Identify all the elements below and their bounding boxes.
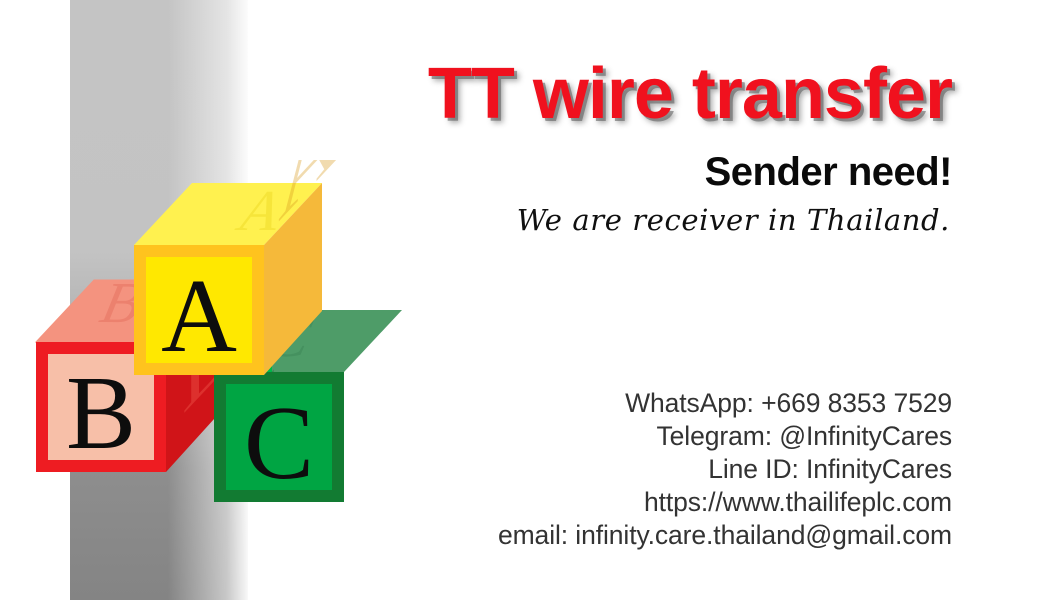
svg-text:B: B — [66, 354, 136, 471]
promo-banner: B B B C — [0, 0, 1063, 600]
page-title: TT wire transfer — [250, 58, 952, 130]
contact-line-website[interactable]: https://www.thailifeplc.com — [250, 486, 952, 519]
tagline: We are receiver in Thailand. — [248, 205, 950, 237]
svg-text:A: A — [161, 257, 237, 374]
contact-details: WhatsApp: +669 8353 7529 Telegram: @Infi… — [250, 387, 952, 552]
subtitle: Sender need! — [250, 152, 952, 192]
contact-line-line-id: Line ID: InfinityCares — [250, 453, 952, 486]
contact-line-telegram: Telegram: @InfinityCares — [250, 420, 952, 453]
contact-line-email[interactable]: email: infinity.care.thailand@gmail.com — [250, 519, 952, 552]
text-column: TT wire transfer Sender need! We are rec… — [250, 0, 952, 600]
contact-line-whatsapp: WhatsApp: +669 8353 7529 — [250, 387, 952, 420]
